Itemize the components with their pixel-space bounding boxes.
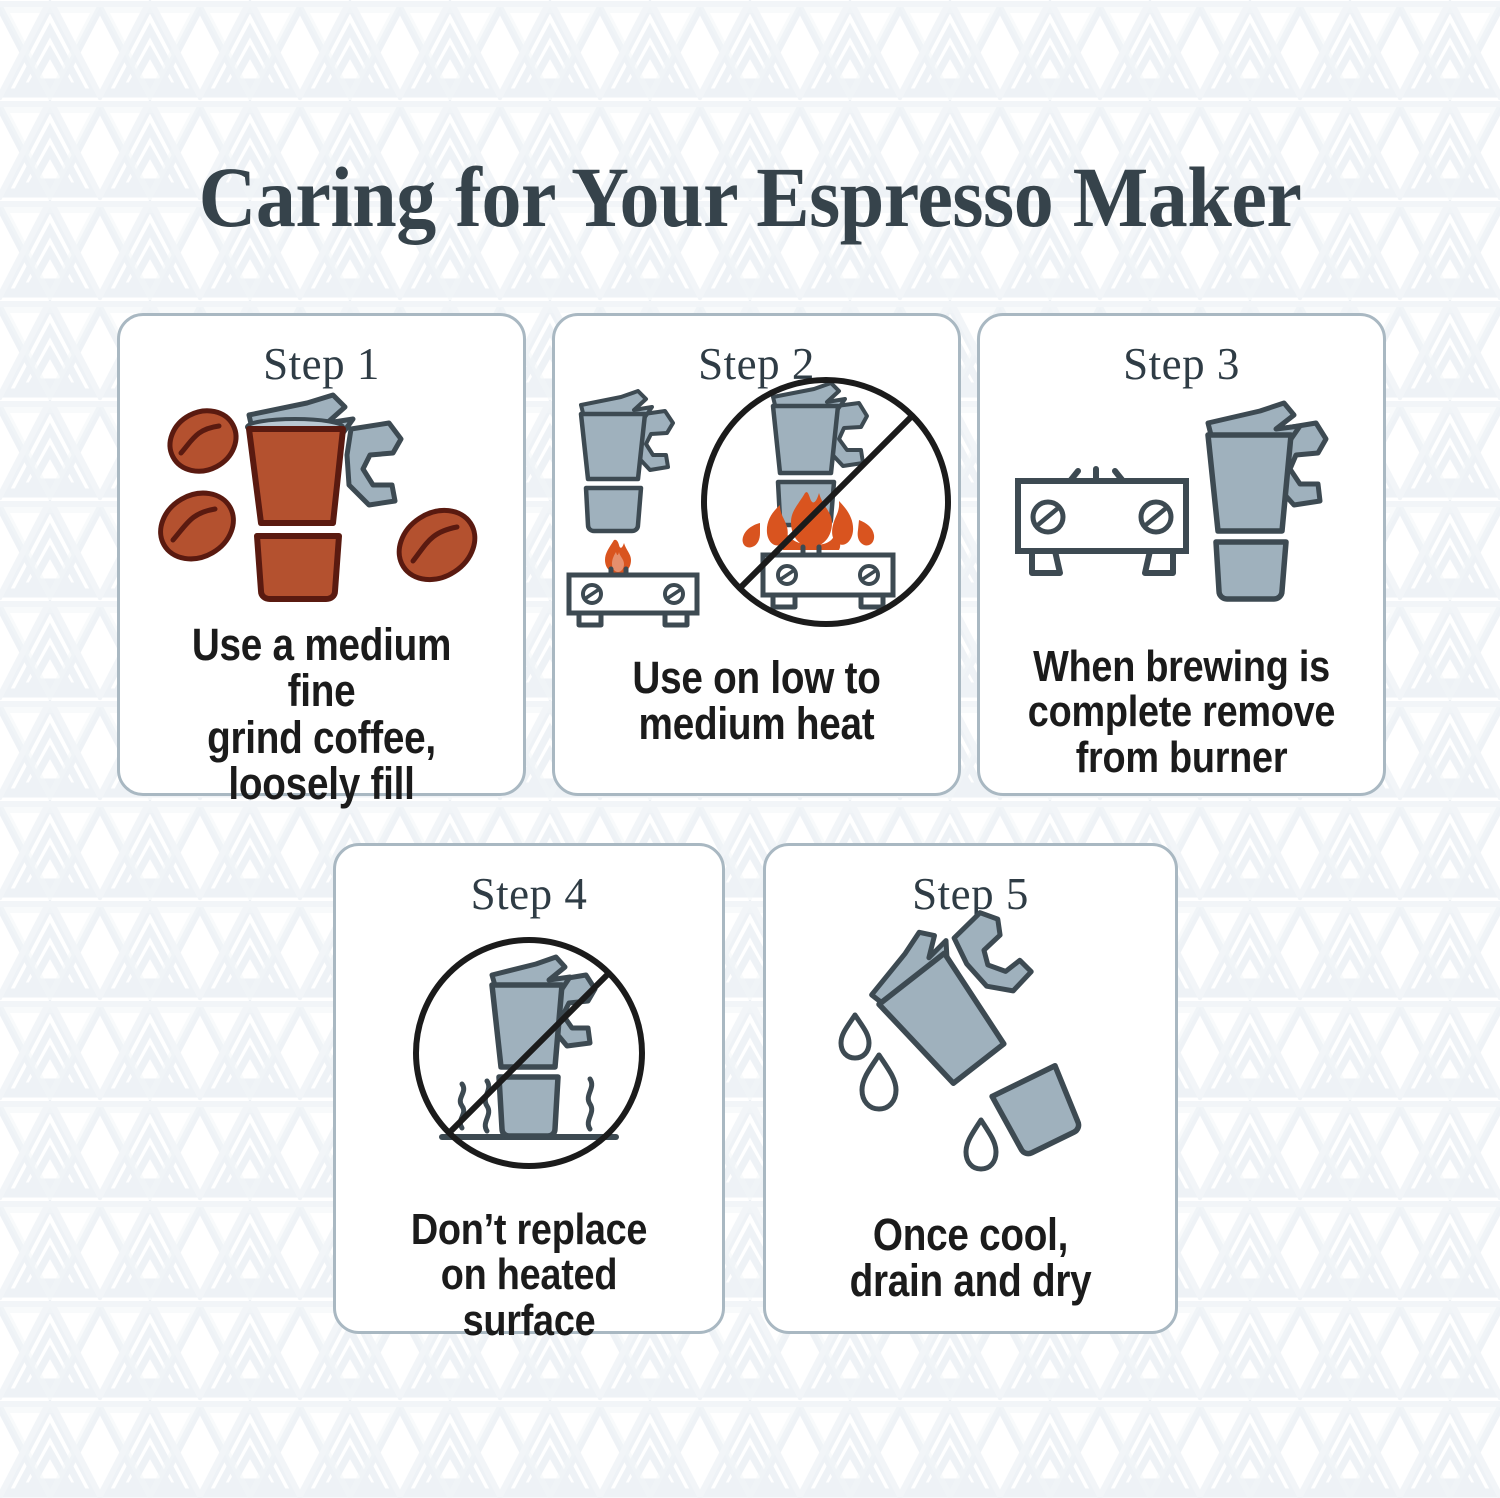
- moka-pot-handle-icon: [347, 423, 401, 505]
- remove-pot-from-stove-icon: [1012, 405, 1352, 630]
- coffee-bean-icon: [386, 496, 488, 593]
- page-title: Caring for Your Espresso Maker: [53, 154, 1448, 240]
- infographic-page: Caring for Your Espresso Maker Step 1: [0, 0, 1500, 1498]
- stove-icon: [1018, 469, 1186, 573]
- heat-wave-icon: [588, 1079, 591, 1129]
- caption-line: grind coffee,: [155, 715, 488, 761]
- step-label: Step 4: [471, 872, 588, 917]
- caption-line: medium heat: [590, 701, 923, 747]
- step-caption: Use a medium fine grind coffee, loosely …: [148, 622, 495, 807]
- moka-pot-base-detached: [992, 1066, 1085, 1158]
- moka-pot-with-beans-icon: [157, 393, 487, 608]
- caption-line: on heated surface: [370, 1252, 688, 1343]
- step-5-illustration: [766, 923, 1175, 1188]
- step-2-illustration: [555, 389, 958, 639]
- step-3-illustration: [980, 405, 1383, 630]
- coffee-bean-icon: [148, 480, 245, 572]
- step-card-3: Step 3: [977, 313, 1386, 796]
- stove-icon: [763, 547, 893, 607]
- caption-line: complete remove: [1015, 689, 1348, 734]
- step-label: Step 1: [263, 342, 380, 387]
- caption-line: Use on low to: [590, 655, 923, 701]
- caption-line: drain and dry: [802, 1258, 1140, 1304]
- moka-pot-upper-chamber: [249, 429, 343, 523]
- moka-pot-metal-icon: [1208, 403, 1326, 599]
- caption-line: Use a medium fine: [155, 622, 488, 715]
- step-card-4: Step 4: [333, 843, 725, 1334]
- step-1-illustration: [120, 393, 523, 608]
- step-label: Step 5: [912, 872, 1029, 917]
- caption-line: from burner: [1015, 735, 1348, 780]
- step-caption: Use on low to medium heat: [583, 655, 930, 748]
- step-card-2: Step 2: [552, 313, 961, 796]
- caption-line: When brewing is: [1015, 644, 1348, 689]
- step-caption: Don’t replace on heated surface: [363, 1207, 695, 1343]
- moka-pot-on-stove-high-flame-prohibited-icon: [704, 380, 948, 624]
- caption-line: loosely fill: [155, 761, 488, 807]
- no-hot-surface-icon: [404, 933, 654, 1183]
- caption-line: Don’t replace: [370, 1207, 688, 1252]
- step-card-5: Step 5: [763, 843, 1178, 1334]
- moka-pot-on-stove-low-flame-icon: [569, 391, 697, 625]
- step-card-1: Step 1: [117, 313, 526, 796]
- coffee-bean-icon: [159, 399, 246, 482]
- step-label: Step 3: [1123, 342, 1240, 387]
- stove-icon: [569, 569, 697, 625]
- step-caption: When brewing is complete remove from bur…: [1008, 644, 1355, 780]
- moka-pot-lower-chamber: [257, 536, 339, 599]
- moka-pot-metal-icon: [492, 957, 595, 1136]
- step-caption: Once cool, drain and dry: [795, 1212, 1147, 1305]
- caption-line: Once cool,: [802, 1212, 1140, 1258]
- moka-pot-disassembled-icon: [859, 889, 1060, 1089]
- step-4-illustration: [336, 933, 722, 1183]
- drain-and-dry-icon: [821, 923, 1121, 1188]
- heat-level-comparison-icon: [567, 389, 947, 639]
